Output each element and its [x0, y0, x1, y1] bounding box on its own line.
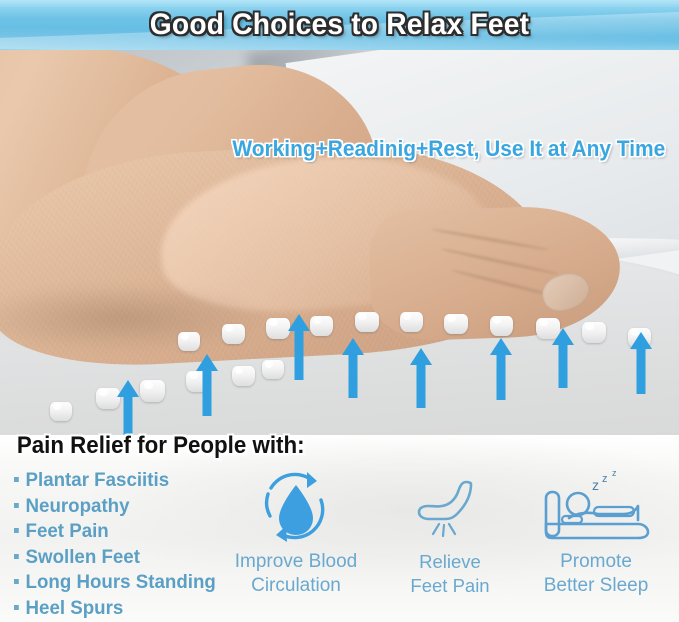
pressure-arrow-up-icon	[288, 314, 310, 380]
water-drop-circulation-icon	[255, 466, 337, 550]
foot-pain-icon	[413, 466, 487, 550]
pressure-arrow-up-icon	[196, 354, 218, 416]
benefit-label-line2: Feet Pain	[410, 575, 489, 596]
benefit-label-line2: Better Sleep	[544, 575, 649, 596]
massage-nub	[310, 316, 333, 336]
list-item-label: Long Hours Standing	[26, 570, 216, 596]
list-item-label: Swollen Feet	[26, 545, 140, 571]
massage-nub	[232, 366, 255, 386]
bullet-square-icon	[14, 579, 19, 584]
sleep-z-large: z	[592, 477, 599, 493]
sleep-z-small: z	[612, 468, 617, 478]
massage-nub	[140, 380, 165, 402]
massage-nub	[266, 318, 290, 339]
pressure-arrow-up-icon	[630, 332, 652, 394]
benefit-promote-better-sleep: z z z Promote Better Sleep	[513, 466, 679, 598]
list-item-label: Heel Spurs	[26, 596, 124, 622]
sleep-z-medium: z	[602, 473, 608, 485]
massage-nub	[222, 324, 245, 344]
massage-nub	[582, 322, 606, 343]
foot-image	[0, 88, 630, 388]
product-photo: Working+Readinig+Rest, Use It at Any Tim…	[0, 50, 679, 435]
massage-nub	[178, 332, 200, 351]
benefit-label-line1: Improve Blood	[235, 551, 358, 572]
photo-subtitle: Working+Readinig+Rest, Use It at Any Tim…	[233, 136, 666, 162]
bed-sleep-icon: z z z	[538, 466, 654, 550]
pain-relief-heading: Pain Relief for People with:	[17, 432, 305, 460]
product-infographic: Good Choices to Relax Feet	[0, 0, 679, 622]
pressure-arrow-up-icon	[410, 348, 432, 408]
benefit-label-line1: Promote	[560, 551, 632, 572]
massage-nub	[400, 312, 423, 332]
benefit-label-line2: Circulation	[251, 575, 341, 596]
benefit-icons-row: Improve Blood Circulation Relieve Feet P…	[205, 466, 679, 622]
massage-nub	[50, 402, 72, 421]
massage-nub	[355, 312, 379, 332]
bullet-square-icon	[14, 554, 19, 559]
page-title: Good Choices to Relax Feet	[20, 0, 658, 50]
list-item-label: Feet Pain	[26, 519, 109, 545]
list-item-label: Neuropathy	[26, 494, 130, 520]
bullet-square-icon	[14, 605, 19, 610]
massage-nub	[262, 360, 284, 379]
list-item-label: Plantar Fasciitis	[26, 468, 170, 494]
pressure-arrow-up-icon	[552, 328, 574, 388]
pressure-arrow-up-icon	[490, 338, 512, 400]
massage-nub	[444, 314, 468, 334]
benefit-relieve-feet-pain: Relieve Feet Pain	[387, 466, 513, 598]
benefit-improve-circulation: Improve Blood Circulation	[205, 466, 387, 598]
pressure-arrow-up-icon	[117, 380, 139, 435]
benefit-label: Promote Better Sleep	[544, 550, 649, 598]
benefit-label-line1: Relieve	[419, 551, 481, 572]
pressure-arrow-up-icon	[342, 338, 364, 398]
benefit-label: Improve Blood Circulation	[235, 550, 358, 598]
bullet-square-icon	[14, 503, 19, 508]
benefit-label: Relieve Feet Pain	[410, 550, 489, 598]
massage-nub	[490, 316, 513, 336]
bullet-square-icon	[14, 477, 19, 482]
bullet-square-icon	[14, 528, 19, 533]
